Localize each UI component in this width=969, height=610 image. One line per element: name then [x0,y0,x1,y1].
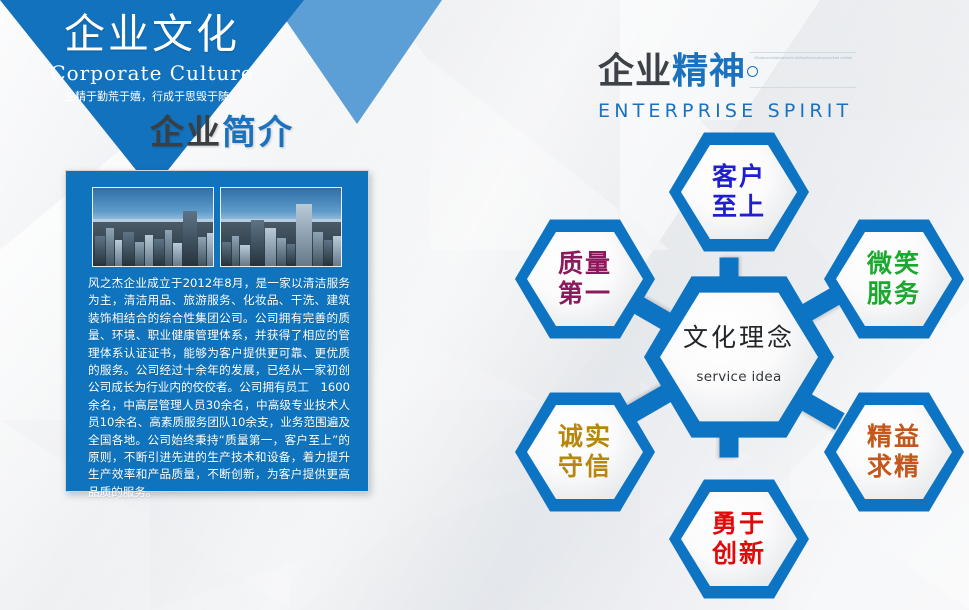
hex-label-innovation: 勇于 创新 [669,477,809,601]
intro-heading: 企业简介 [150,113,294,153]
banner-text-group: 企业文化 Corporate Culture 业精于勤荒于嬉，行成于思毁于随。 [0,10,304,105]
hex-center-label: 文化理念 service idea [644,273,834,441]
hex-node-excellence[interactable]: 精益 求精 [824,390,964,514]
hex-center-title-cn: 文化理念 [683,323,795,353]
intro-body-text: 风之杰企业成立于2012年8月，是一家以清洁服务为主，清洁用品、旅游服务、化妆品… [88,275,350,501]
spirit-title-blue: 精神 [672,51,746,92]
banner-title-cn: 企业文化 [0,10,304,58]
hex-label-customer-first: 客户 至上 [669,130,809,254]
hex-label-line2: 至上 [712,192,766,222]
spirit-title-dark: 企业 [598,51,672,92]
hex-node-customer-first[interactable]: 客户 至上 [669,130,809,254]
city-skyline-photo-1 [92,187,214,267]
hex-label-line1: 精益 [867,422,921,452]
hex-label-line1: 勇于 [712,509,766,539]
hex-label-quality-first: 质量 第一 [515,217,655,341]
culture-hex-diagram: 文化理念 service idea 客户 至上 微笑 服务 [490,115,969,610]
hex-label-line1: 诚实 [558,422,612,452]
hex-node-smile-service[interactable]: 微笑 服务 [824,217,964,341]
hex-center-title-en: service idea [696,362,781,392]
hex-node-center[interactable]: 文化理念 service idea [644,273,834,441]
hex-node-innovation[interactable]: 勇于 创新 [669,477,809,601]
hex-label-line1: 客户 [712,162,766,192]
intro-photo-strip [92,187,342,265]
spirit-heading: 企业精神 dfikdsuiwnhldsklweinchki dhifiartif… [598,52,852,122]
hex-label-line1: 微笑 [867,249,921,279]
intro-heading-dark: 企业 [150,113,222,153]
hex-label-line2: 创新 [712,539,766,569]
spirit-title-cn-row: 企业精神 dfikdsuiwnhldsklweinchki dhifiartif… [598,52,852,99]
banner-title-en: Corporate Culture [0,60,304,86]
intro-card: 风之杰企业成立于2012年8月，是一家以清洁服务为主，清洁用品、旅游服务、化妆品… [65,170,369,492]
city-skyline-photo-2 [220,187,342,267]
spirit-title-en: ENTERPRISE SPIRIT [598,100,852,122]
corporate-culture-poster: 企业文化 Corporate Culture 业精于勤荒于嬉，行成于思毁于随。 … [0,0,969,610]
hex-node-integrity[interactable]: 诚实 守信 [515,390,655,514]
intro-heading-blue: 简介 [222,113,294,153]
hex-label-line2: 第一 [558,279,612,309]
hex-label-integrity: 诚实 守信 [515,390,655,514]
hex-node-quality-first[interactable]: 质量 第一 [515,217,655,341]
hex-label-line1: 质量 [558,249,612,279]
banner-motto: 业精于勤荒于嬉，行成于思毁于随。 [0,89,304,105]
hex-label-excellence: 精益 求精 [824,390,964,514]
hex-label-line2: 守信 [558,452,612,482]
hex-label-line2: 求精 [867,452,921,482]
hex-label-line2: 服务 [867,279,921,309]
spirit-micro-text: dfikdsuiwnhldsklweinchki dhifiartifulron… [754,56,852,86]
hex-label-smile-service: 微笑 服务 [824,217,964,341]
